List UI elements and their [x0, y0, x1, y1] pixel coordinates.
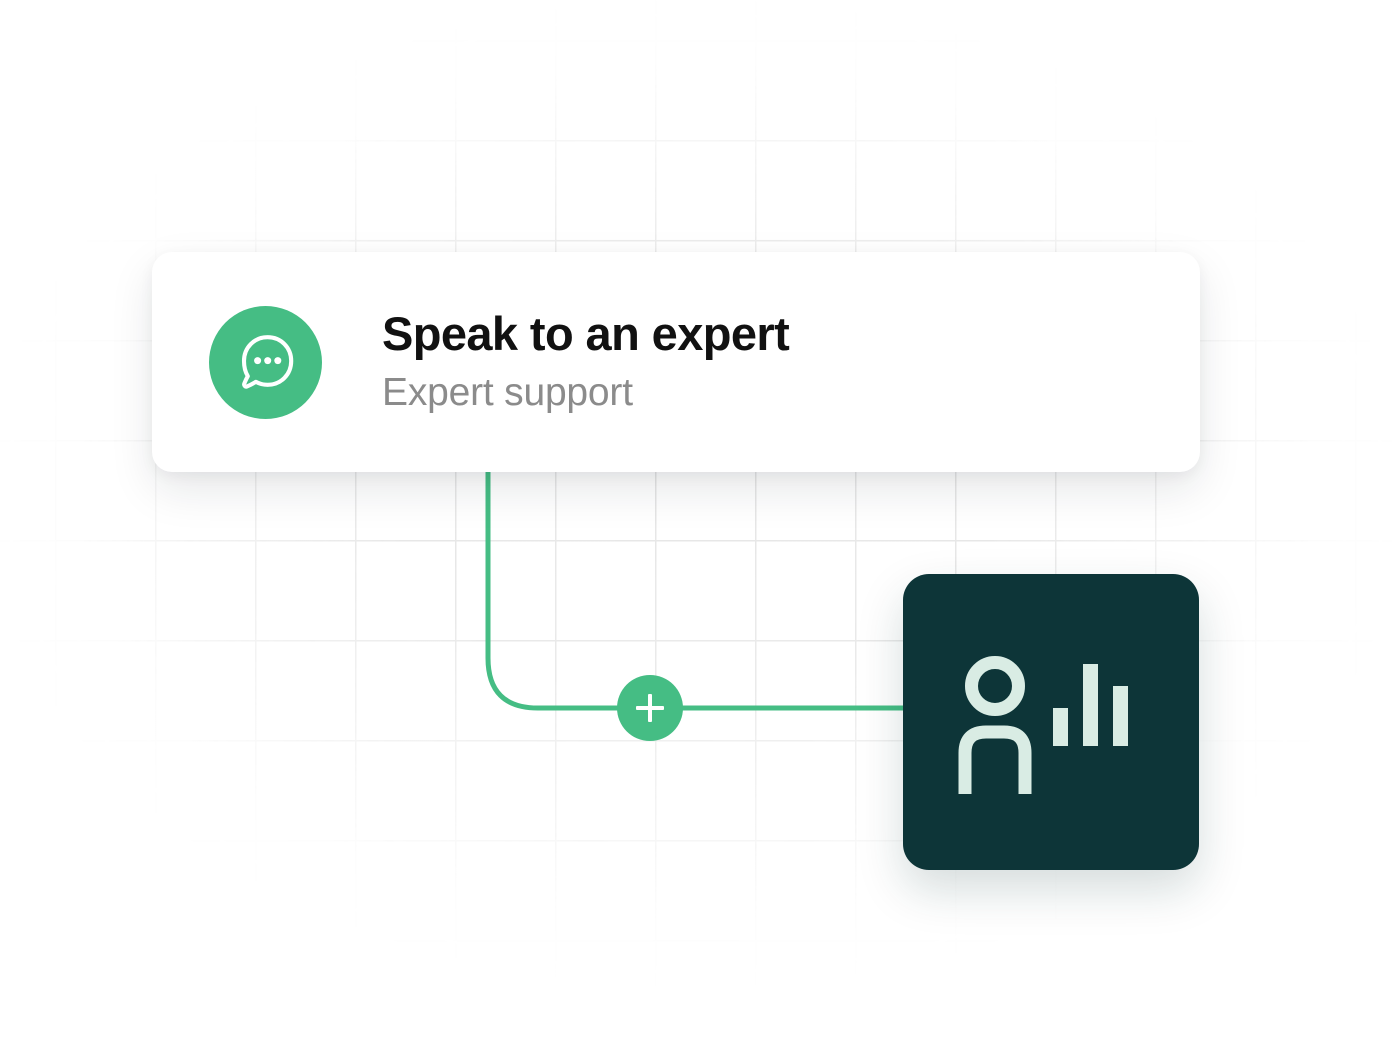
diagram-canvas: Speak to an expert Expert support	[0, 0, 1392, 1050]
background-grid	[0, 0, 1392, 1050]
bar-tall	[1083, 664, 1098, 746]
card-text-block: Speak to an expert Expert support	[382, 309, 789, 416]
card-subtitle: Expert support	[382, 372, 789, 415]
plus-icon-vertical-stroke	[648, 694, 651, 722]
bar-medium	[1113, 686, 1128, 746]
connector-add-node[interactable]	[617, 675, 683, 741]
chat-bubble-dots-icon	[234, 330, 298, 394]
person-head-icon	[972, 663, 1019, 710]
person-with-bars-logo	[957, 646, 1145, 798]
speak-to-an-expert-card[interactable]: Speak to an expert Expert support	[152, 252, 1200, 472]
person-body-icon	[965, 732, 1025, 794]
chat-avatar	[209, 306, 322, 419]
logo-tile[interactable]	[903, 574, 1199, 870]
bar-short	[1053, 708, 1068, 746]
card-title: Speak to an expert	[382, 309, 789, 360]
